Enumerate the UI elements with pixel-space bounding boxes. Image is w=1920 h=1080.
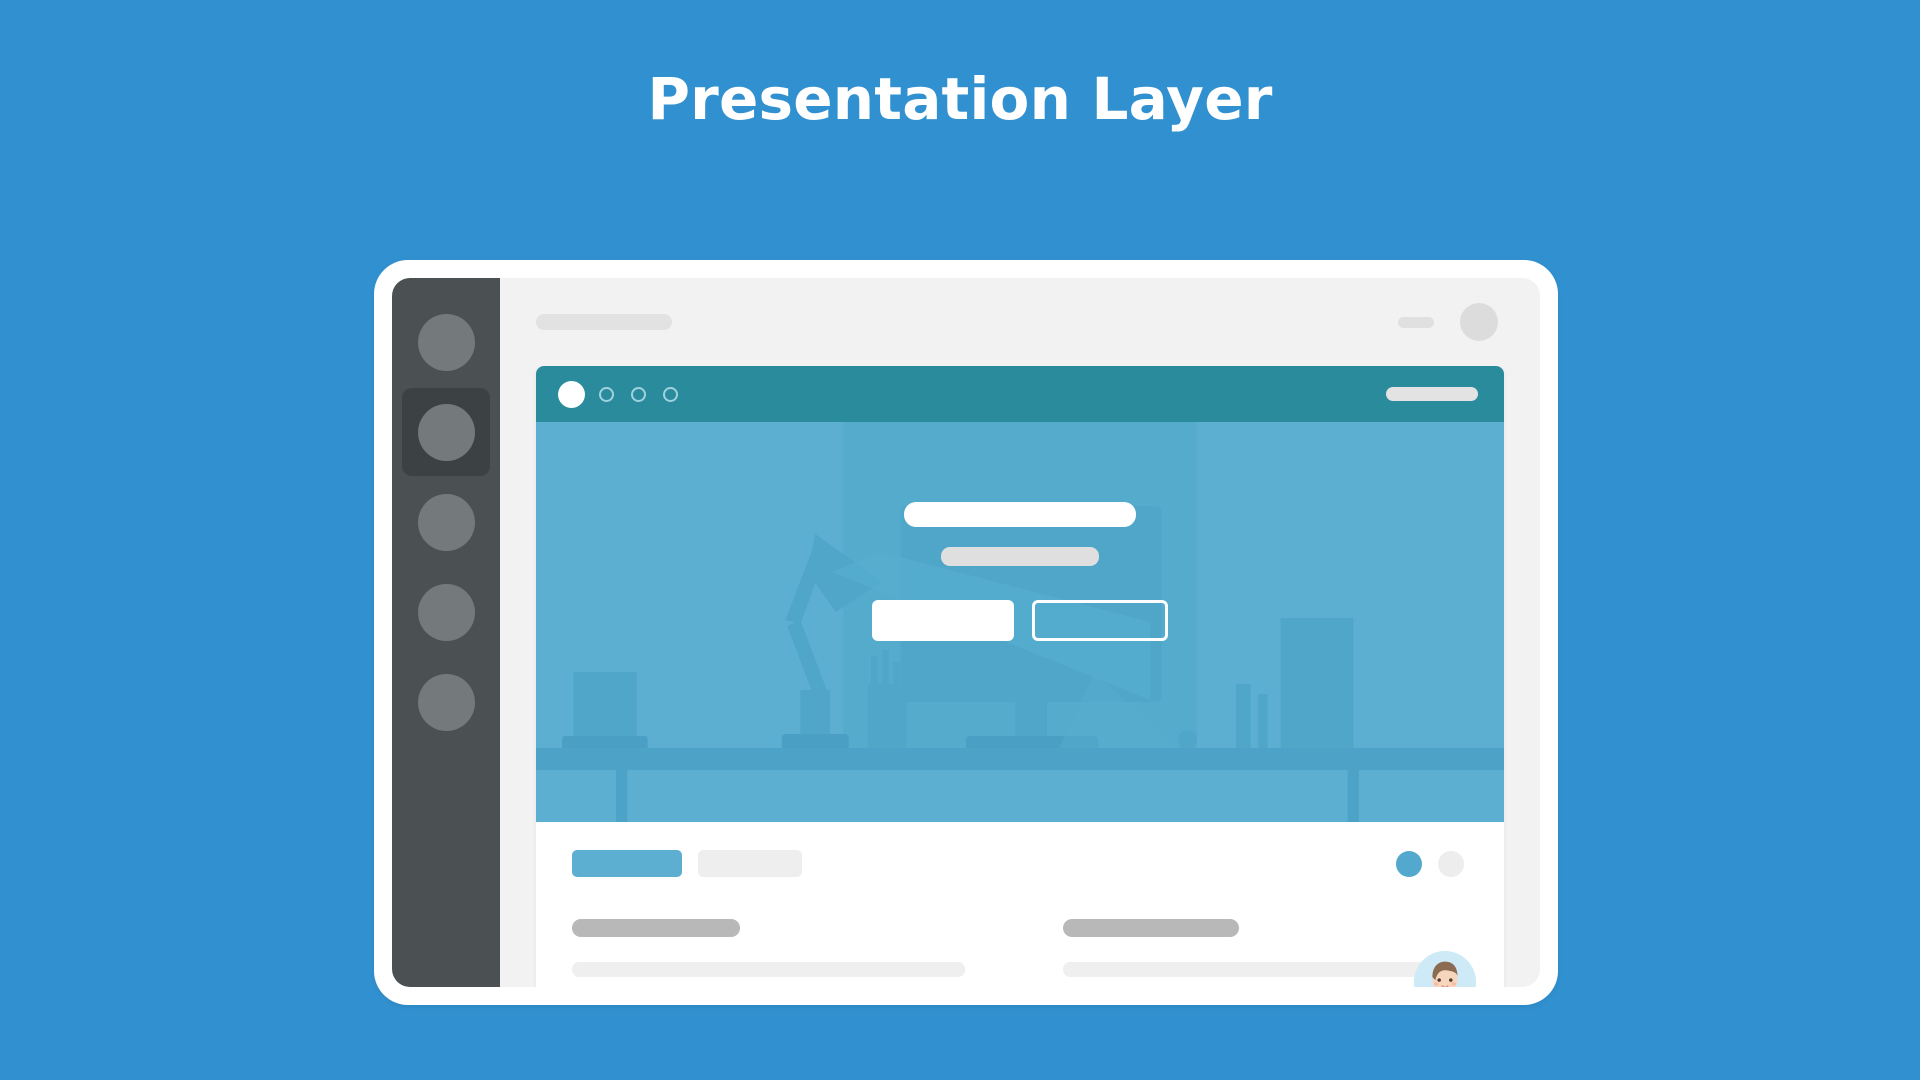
column-1-line-1 [572, 962, 965, 977]
hero-subtitle-placeholder [941, 547, 1099, 566]
app-sidebar [392, 278, 500, 987]
column-1-heading [572, 919, 740, 937]
tab-dot-2-icon[interactable] [631, 387, 646, 402]
tab-dot-1-icon[interactable] [599, 387, 614, 402]
sidebar-icon-5 [418, 674, 475, 731]
column-2-line-1 [1063, 962, 1432, 977]
device-screen [392, 278, 1540, 987]
browser-window [536, 366, 1504, 987]
content-section [536, 822, 1504, 987]
hero-section [536, 422, 1504, 822]
sidebar-item-4[interactable] [402, 568, 490, 656]
tab-overview[interactable] [572, 850, 682, 877]
sidebar-item-2[interactable] [402, 388, 490, 476]
tab-active-dot-icon[interactable] [558, 381, 585, 408]
device-frame [374, 260, 1558, 1005]
hero-primary-button[interactable] [872, 600, 1014, 641]
tab-dot-3-icon[interactable] [663, 387, 678, 402]
app-topbar [500, 278, 1540, 366]
tabs-row [572, 850, 1464, 877]
pagination [1396, 851, 1464, 877]
hero-secondary-button[interactable] [1032, 600, 1168, 641]
content-columns [572, 919, 1464, 987]
tab-details[interactable] [698, 850, 802, 877]
content-column-2 [1063, 919, 1464, 987]
app-title-placeholder [536, 314, 672, 330]
sidebar-icon-2 [418, 404, 475, 461]
page-dot-1[interactable] [1396, 851, 1422, 877]
content-column-1 [572, 919, 973, 987]
page-dot-2[interactable] [1438, 851, 1464, 877]
sidebar-item-3[interactable] [402, 478, 490, 566]
sidebar-icon-1 [418, 314, 475, 371]
app-main [500, 278, 1540, 987]
sidebar-icon-4 [418, 584, 475, 641]
sidebar-icon-3 [418, 494, 475, 551]
sidebar-item-1[interactable] [402, 298, 490, 386]
hero-actions [872, 600, 1168, 641]
minimize-icon[interactable] [1398, 317, 1434, 328]
browser-url-bar[interactable] [1386, 387, 1478, 401]
browser-titlebar [536, 366, 1504, 422]
column-2-heading [1063, 919, 1239, 937]
hero-headline-placeholder [904, 502, 1136, 527]
sidebar-item-5[interactable] [402, 658, 490, 746]
hero-copy [536, 502, 1504, 641]
account-avatar-icon[interactable] [1460, 303, 1498, 341]
page-title: Presentation Layer [0, 68, 1920, 132]
app-topbar-actions [1398, 303, 1498, 341]
